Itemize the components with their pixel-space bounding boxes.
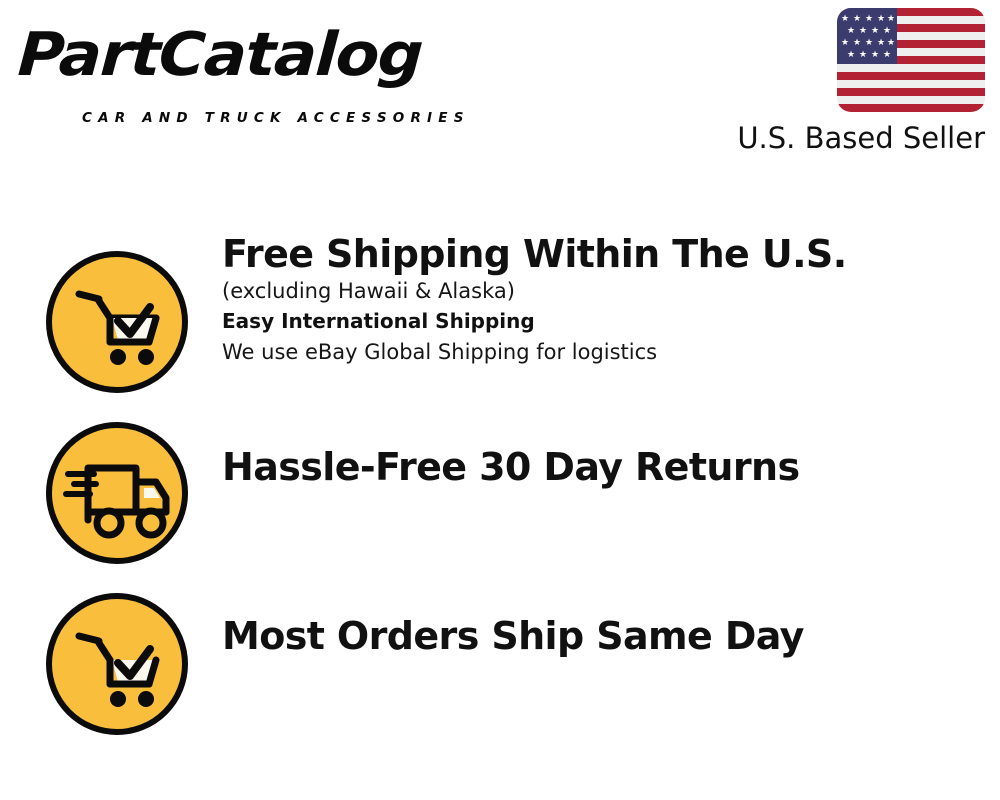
feature-heading: Hassle-Free 30 Day Returns: [222, 445, 992, 489]
brand-logo[interactable]: PartCatalog CAR AND TRUCK ACCESSORIES: [20, 22, 490, 117]
feature-row: Hassle-Free 30 Day Returns: [0, 403, 1000, 574]
shopping-cart-check-icon: [44, 249, 190, 395]
feature-row: Free Shipping Within The U.S. (excluding…: [0, 232, 1000, 403]
feature-heading: Free Shipping Within The U.S.: [222, 232, 992, 276]
shopping-cart-check-icon: [44, 591, 190, 737]
brand-wordmark: PartCatalog: [16, 22, 518, 88]
brand-tagline: CAR AND TRUCK ACCESSORIES: [82, 110, 470, 126]
flag-canton: ★ ★ ★ ★ ★ ★ ★ ★ ★ ★ ★ ★ ★ ★ ★ ★ ★ ★: [837, 8, 897, 64]
us-based-seller-label: U.S. Based Seller: [715, 121, 985, 155]
feature-subtext-international-title: Easy International Shipping: [222, 306, 992, 337]
feature-text-block: Most Orders Ship Same Day: [222, 614, 992, 658]
feature-text-block: Hassle-Free 30 Day Returns: [222, 445, 992, 489]
feature-subtext-exclusion: (excluding Hawaii & Alaska): [222, 276, 992, 306]
feature-text-block: Free Shipping Within The U.S. (excluding…: [222, 232, 992, 367]
feature-list: Free Shipping Within The U.S. (excluding…: [0, 232, 1000, 745]
feature-row: Most Orders Ship Same Day: [0, 574, 1000, 745]
us-based-seller-badge: ★ ★ ★ ★ ★ ★ ★ ★ ★ ★ ★ ★ ★ ★ ★ ★ ★ ★ U.S.…: [715, 8, 985, 155]
delivery-truck-icon: [44, 420, 190, 566]
feature-heading: Most Orders Ship Same Day: [222, 614, 992, 658]
feature-subtext-logistics: We use eBay Global Shipping for logistic…: [222, 337, 992, 367]
us-flag-icon: ★ ★ ★ ★ ★ ★ ★ ★ ★ ★ ★ ★ ★ ★ ★ ★ ★ ★: [837, 8, 985, 112]
